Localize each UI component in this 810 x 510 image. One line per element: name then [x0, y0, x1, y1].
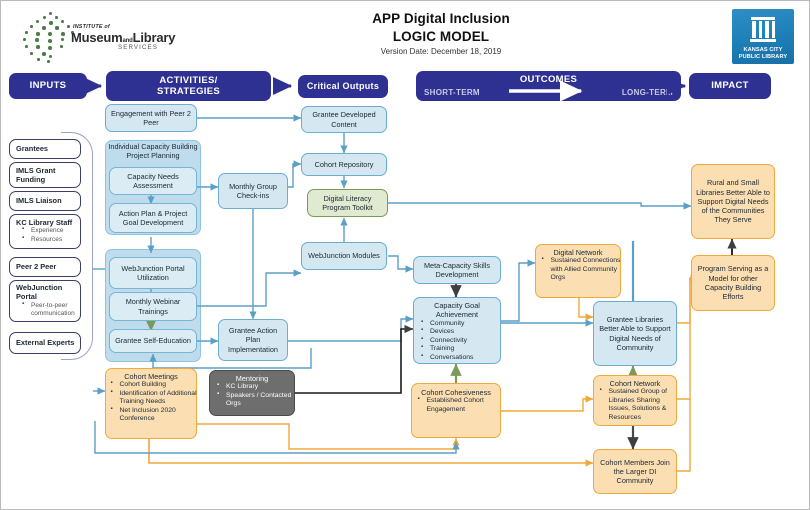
activity-grantee-action-plan-implementation[interactable]: Grantee Action Plan Implementation — [218, 319, 288, 361]
list-item: Net Inclusion 2020 Conference — [115, 407, 199, 424]
list-item: Established Cohort Engagement — [422, 397, 504, 414]
list-item: Sustained Group of Libraries Sharing Iss… — [604, 388, 680, 422]
activity-cohort-meetings[interactable]: Cohort Meetings Cohort Building Identifi… — [105, 368, 197, 439]
list-item: Community — [425, 320, 505, 328]
list-item: Sustained Connections with Allied Commun… — [546, 257, 624, 282]
activity-grantee-self-education[interactable]: Grantee Self-Education — [109, 329, 197, 353]
outcome-grantee-libraries-support[interactable]: Grantee Libraries Better Able to Support… — [593, 301, 677, 366]
kcpl-base — [750, 39, 776, 42]
outcome-digital-network-title: Digital Network — [539, 248, 617, 257]
activity-mentoring-bullets: KC Library Speakers / Contacted Orgs — [205, 383, 299, 408]
outcome-cohort-network-title: Cohort Network — [597, 379, 673, 388]
list-item: Cohort Building — [115, 381, 199, 389]
input-grantees-label: Grantees — [16, 144, 77, 153]
outcome-cohort-cohesiveness-bullets: Established Cohort Engagement — [409, 397, 504, 414]
kcpl-logo: KANSAS CITY PUBLIC LIBRARY — [732, 9, 794, 64]
input-kc-library-staff[interactable]: KC Library Staff Experience Resources — [9, 214, 81, 249]
banner-activities-label: ACTIVITIES/ STRATEGIES — [157, 75, 220, 98]
activity-mentoring-title: Mentoring — [213, 374, 291, 383]
output-cohort-repository[interactable]: Cohort Repository — [301, 153, 387, 176]
list-item: Identification of Additional Training Ne… — [115, 390, 199, 407]
input-peer-2-peer-label: Peer 2 Peer — [16, 262, 77, 271]
imls-logo-dots — [19, 11, 77, 63]
activity-action-plan-goal-development[interactable]: Action Plan & Project Goal Development — [109, 203, 197, 233]
list-item: Training — [425, 345, 505, 353]
outcome-cohort-cohesiveness-title: Cohort Cohesiveness — [415, 388, 497, 397]
input-kc-library-staff-bullets: Experience Resources — [14, 227, 89, 243]
output-webjunction-modules[interactable]: WebJunction Modules — [301, 242, 387, 270]
input-external-experts[interactable]: External Experts — [9, 332, 81, 354]
kcpl-column — [765, 21, 769, 38]
list-item: Conversations — [425, 354, 505, 362]
outcome-cohort-members-join-di[interactable]: Cohort Members Join the Larger DI Commun… — [593, 449, 677, 494]
page-title-line1: APP Digital Inclusion — [301, 11, 581, 26]
outcome-capacity-goal-title: Capacity Goal Achievement — [417, 301, 497, 320]
banner-outcomes: OUTCOMES SHORT-TERM LONG-TERM — [416, 71, 681, 101]
outcome-capacity-goal-bullets: Community Devices Connectivity Training … — [409, 320, 505, 362]
banner-long-term: LONG-TERM — [622, 88, 673, 98]
outcome-digital-network[interactable]: Digital Network Sustained Connections wi… — [535, 244, 621, 298]
activity-engagement-peer2peer[interactable]: Engagement with Peer 2 Peer — [105, 104, 197, 132]
list-item: Devices — [425, 328, 505, 336]
kcpl-column — [752, 21, 756, 38]
input-imls-grant-funding[interactable]: IMLS Grant Funding — [9, 162, 81, 188]
input-peer-2-peer[interactable]: Peer 2 Peer — [9, 257, 81, 277]
version-date: Version Date: December 18, 2019 — [301, 47, 581, 56]
list-item: Resources — [26, 236, 89, 244]
input-webjunction-portal[interactable]: WebJunction Portal Peer-to-peer communic… — [9, 280, 81, 322]
activity-group-planning-label: Individual Capacity Building Project Pla… — [107, 142, 199, 160]
activity-monthly-webinar-trainings[interactable]: Monthly Webinar Trainings — [109, 292, 197, 321]
banner-impact: IMPACT — [689, 73, 771, 99]
banner-outcomes-title: OUTCOMES — [416, 74, 681, 85]
activity-cohort-meetings-title: Cohort Meetings — [109, 372, 193, 381]
logic-model-diagram: INSTITUTE of MuseumandLibrary SERVICES A… — [0, 0, 810, 510]
imls-logo-line3: SERVICES — [118, 44, 158, 51]
kcpl-logo-line2: PUBLIC LIBRARY — [732, 54, 794, 60]
list-item: KC Library — [221, 383, 299, 391]
kcpl-column — [759, 21, 763, 38]
output-grantee-developed-content[interactable]: Grantee Developed Content — [301, 106, 387, 133]
output-digital-literacy-toolkit[interactable]: Digital Literacy Program Toolkit — [307, 189, 388, 217]
outcome-cohort-cohesiveness[interactable]: Cohort Cohesiveness Established Cohort E… — [411, 383, 501, 438]
activity-mentoring[interactable]: Mentoring KC Library Speakers / Contacte… — [209, 370, 295, 416]
outcome-meta-capacity-skills[interactable]: Meta-Capacity Skills Development — [413, 256, 501, 284]
kcpl-logo-line1: KANSAS CITY — [732, 47, 794, 53]
banner-activities: ACTIVITIES/ STRATEGIES — [106, 71, 271, 101]
input-imls-liaison[interactable]: IMLS Liaison — [9, 191, 81, 211]
banner-inputs: INPUTS — [9, 73, 87, 99]
kcpl-column — [772, 21, 776, 38]
input-external-experts-label: External Experts — [16, 338, 77, 347]
activity-monthly-group-checkins[interactable]: Monthly Group Check-ins — [218, 173, 288, 209]
outcome-digital-network-bullets: Sustained Connections with Allied Commun… — [533, 257, 624, 282]
list-item: Peer-to-peer communication — [26, 302, 89, 318]
imls-logo-museum: Museum — [71, 30, 123, 45]
input-webjunction-portal-label: WebJunction Portal — [14, 284, 79, 302]
input-imls-grant-funding-label: IMLS Grant Funding — [16, 166, 77, 185]
activity-capacity-needs-assessment[interactable]: Capacity Needs Assessment — [109, 167, 197, 195]
input-imls-liaison-label: IMLS Liaison — [16, 196, 77, 205]
activity-webjunction-portal-utilization[interactable]: WebJunction Portal Utilization — [109, 257, 197, 289]
list-item: Connectivity — [425, 337, 505, 345]
imls-logo: INSTITUTE of MuseumandLibrary SERVICES — [15, 9, 175, 63]
banner-short-term: SHORT-TERM — [424, 88, 480, 98]
imls-logo-line2: MuseumandLibrary — [71, 30, 175, 45]
impact-program-model[interactable]: Program Serving as a Model for other Cap… — [691, 255, 775, 311]
input-webjunction-portal-bullets: Peer-to-peer communication — [14, 302, 89, 318]
input-grantees[interactable]: Grantees — [9, 139, 81, 159]
imls-logo-library: Library — [133, 30, 176, 45]
outcome-cohort-network-bullets: Sustained Group of Libraries Sharing Iss… — [591, 388, 680, 422]
page-title-line2: LOGIC MODEL — [301, 29, 581, 44]
list-item: Experience — [26, 227, 89, 235]
outcome-capacity-goal-achievement[interactable]: Capacity Goal Achievement Community Devi… — [413, 297, 501, 364]
activity-cohort-meetings-bullets: Cohort Building Identification of Additi… — [104, 381, 199, 423]
impact-rural-small-libraries[interactable]: Rural and Small Libraries Better Able to… — [691, 164, 775, 239]
list-item: Speakers / Contacted Orgs — [221, 392, 299, 409]
outcome-cohort-network[interactable]: Cohort Network Sustained Group of Librar… — [593, 375, 677, 426]
banner-critical-outputs: Critical Outputs — [298, 75, 388, 98]
kcpl-roof — [751, 17, 775, 20]
